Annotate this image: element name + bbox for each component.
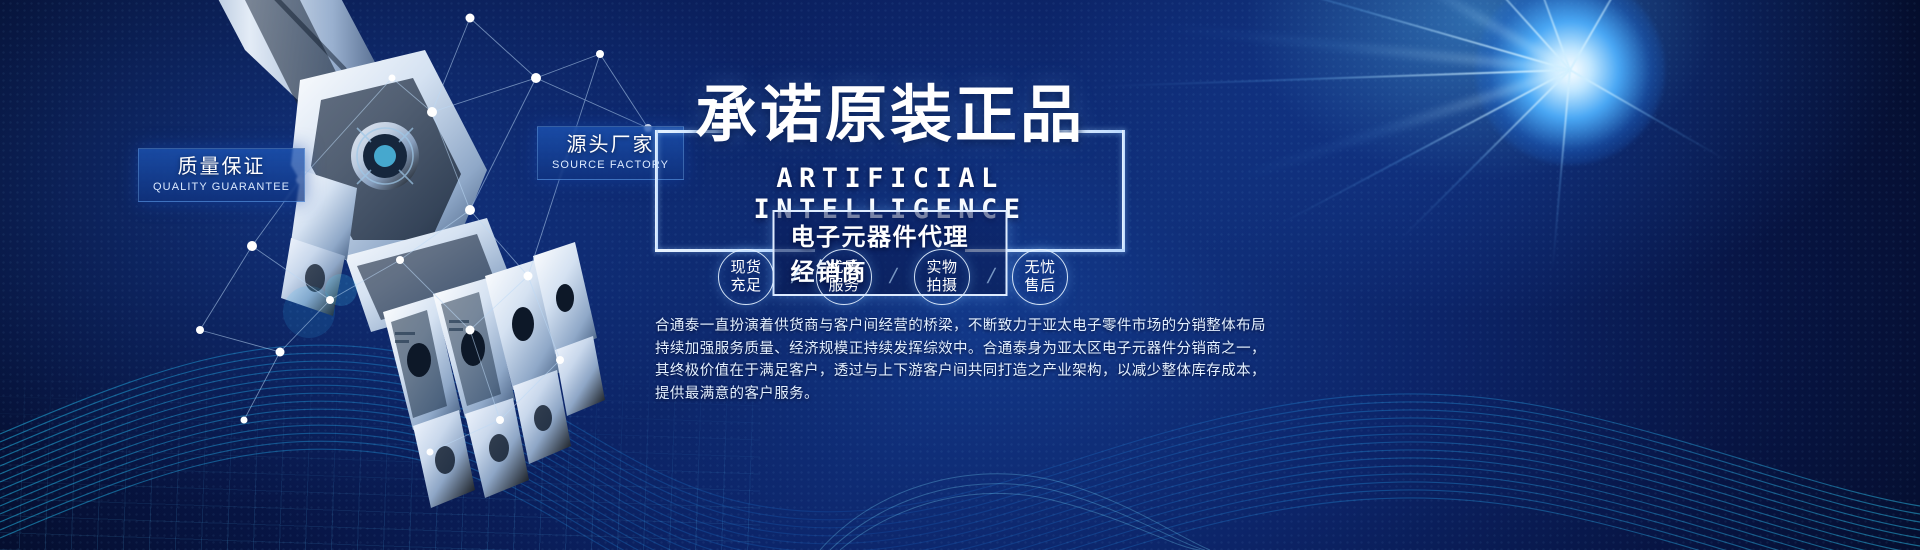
badge-separator-1: /: [771, 265, 819, 289]
badge-separator-2: /: [869, 265, 917, 289]
description-line-3: 其终极价值在于满足客户，透过与上下游客户间共同打造之产业架构，以减少整体库存成本…: [655, 360, 1303, 383]
feature-badge-row: 现货 充足 / 优质 服务 / 实物 拍摄 / 无忧 售后: [718, 246, 1098, 308]
description-line-1: 合通泰一直扮演着供货商与客户间经营的桥梁，不断致力于亚太电子零件市场的分销整体布…: [655, 315, 1303, 338]
badge-separator-3: /: [967, 265, 1015, 289]
feature-badge-service-line1: 优质: [828, 259, 859, 277]
description-line-4: 提供最满意的客户服务。: [655, 383, 1303, 406]
feature-badge-real-photo-line2: 拍摄: [926, 277, 957, 295]
feature-badge-stock-line1: 现货: [730, 259, 761, 277]
promo-banner: 质量保证 QUALITY GUARANTEE 源头厂家 SOURCE FACTO…: [0, 0, 1920, 550]
quality-guarantee-cn: 质量保证: [153, 156, 290, 179]
source-factory-en: SOURCE FACTORY: [552, 159, 669, 171]
top-right-light-burst: [1330, 0, 1810, 310]
description-line-2: 持续加强服务质量、经济规模正持续发挥综效中。合通泰身为亚太区电子元器件分销商之一…: [655, 338, 1303, 361]
feature-badge-stock: 现货 充足: [718, 249, 774, 305]
feature-badge-stock-line2: 充足: [730, 277, 761, 295]
feature-badge-service-line2: 服务: [828, 277, 859, 295]
feature-badge-real-photo: 实物 拍摄: [914, 249, 970, 305]
quality-guarantee-tag: 质量保证 QUALITY GUARANTEE: [138, 148, 305, 202]
robotic-hand-illustration: [95, 0, 655, 520]
hero-headline-block: 承诺原装正品 ARTIFICIAL INTELLIGENCE 电子元器件代理经销…: [655, 78, 1125, 248]
perspective-grid-floor: [0, 340, 760, 550]
feature-badge-after-sales: 无忧 售后: [1012, 249, 1068, 305]
feature-badge-service: 优质 服务: [816, 249, 872, 305]
feature-badge-real-photo-line1: 实物: [926, 259, 957, 277]
page-title: 承诺原装正品: [655, 84, 1125, 146]
company-description: 合通泰一直扮演着供货商与客户间经营的桥梁，不断致力于亚太电子零件市场的分销整体布…: [655, 315, 1303, 405]
source-factory-cn: 源头厂家: [552, 134, 669, 157]
feature-badge-after-sales-line1: 无忧: [1024, 259, 1055, 277]
feature-badge-after-sales-line2: 售后: [1024, 277, 1055, 295]
quality-guarantee-en: QUALITY GUARANTEE: [153, 181, 290, 193]
